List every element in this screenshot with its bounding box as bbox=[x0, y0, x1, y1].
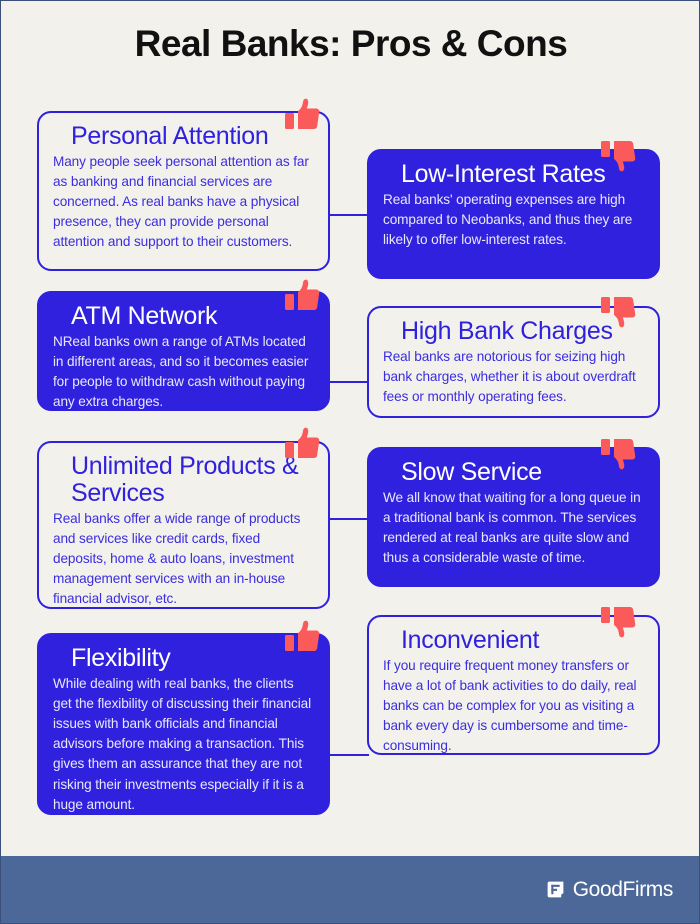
thumbs-down-icon bbox=[597, 291, 641, 335]
goodfirms-logo-icon bbox=[545, 879, 566, 900]
connector-line-1 bbox=[329, 214, 369, 216]
goodfirms-logo[interactable]: GoodFirms bbox=[545, 878, 673, 902]
card-body: Real banks' operating expenses are high … bbox=[383, 190, 644, 250]
card-body: Real banks are notorious for seizing hig… bbox=[383, 347, 644, 407]
card-title: Personal Attention bbox=[71, 123, 314, 150]
connector-line-2 bbox=[329, 381, 369, 383]
thumbs-up-icon bbox=[281, 615, 325, 659]
card-body: We all know that waiting for a long queu… bbox=[383, 488, 644, 568]
card-body: Real banks offer a wide range of product… bbox=[53, 509, 314, 610]
thumbs-down-icon bbox=[597, 601, 641, 645]
card-body: NReal banks own a range of ATMs located … bbox=[53, 332, 314, 412]
page-title: Real Banks: Pros & Cons bbox=[1, 23, 700, 65]
connector-line-4 bbox=[329, 754, 369, 756]
thumbs-down-icon bbox=[597, 433, 641, 477]
card-title: Unlimited Products & Services bbox=[71, 453, 314, 507]
thumbs-up-icon bbox=[281, 274, 325, 318]
card-title: ATM Network bbox=[71, 303, 314, 330]
infographic-page: Real Banks: Pros & Cons Personal Attenti… bbox=[0, 0, 700, 924]
card-title: Flexibility bbox=[71, 645, 314, 672]
card-body: If you require frequent money transfers … bbox=[383, 656, 644, 757]
thumbs-up-icon bbox=[281, 422, 325, 466]
card-unlimited-products-services[interactable]: Unlimited Products & Services Real banks… bbox=[37, 441, 330, 609]
footer-bar: GoodFirms bbox=[1, 856, 700, 923]
card-flexibility[interactable]: Flexibility While dealing with real bank… bbox=[37, 633, 330, 815]
thumbs-up-icon bbox=[281, 93, 325, 137]
connector-line-3 bbox=[329, 518, 369, 520]
card-body: While dealing with real banks, the clien… bbox=[53, 674, 314, 815]
goodfirms-wordmark: GoodFirms bbox=[573, 878, 673, 902]
thumbs-down-icon bbox=[597, 135, 641, 179]
card-body: Many people seek personal attention as f… bbox=[53, 152, 314, 253]
